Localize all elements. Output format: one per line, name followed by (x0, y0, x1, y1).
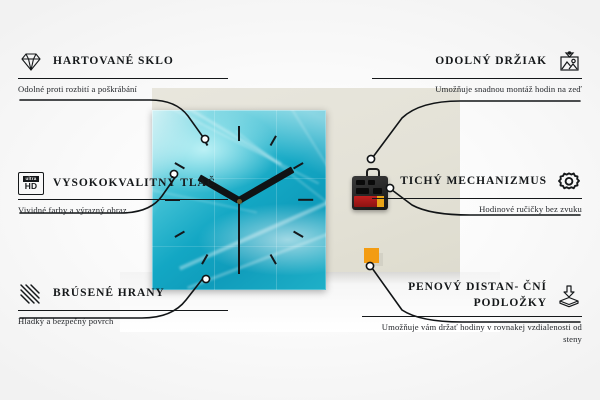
feature-title: PENOVÝ DISTAN- ČNÍ PODLOŽKY (362, 280, 547, 312)
divider (18, 78, 228, 79)
feature-description: Hodinové ručičky bez zvuku (372, 203, 582, 215)
feature-title: BRÚSENÉ HRANY (53, 286, 165, 302)
clock-center-pivot (237, 199, 242, 204)
feature-description: Hladký a bezpečný povrch (18, 315, 228, 327)
foam-spacer-pad (364, 248, 379, 263)
feature-header: BRÚSENÉ HRANY (18, 282, 228, 306)
feature-title: ODOLNÝ DRŽIAK (435, 54, 547, 70)
feature-description: Odolné proti rozbití a poškrábání (18, 83, 228, 95)
divider (372, 78, 582, 79)
feature-high-quality-print[interactable]: ultra HD VYSOKOKVALITNÝ TLAČ Vividné far… (18, 172, 228, 217)
feature-header: ODOLNÝ DRŽIAK (372, 50, 582, 74)
divider (372, 198, 582, 199)
movement-slot (356, 188, 369, 194)
feature-tempered-glass[interactable]: HARTOVANÉ SKLO Odolné proti rozbití a po… (18, 50, 228, 96)
feature-header: PENOVÝ DISTAN- ČNÍ PODLOŽKY (362, 280, 582, 312)
divider (18, 310, 228, 311)
feature-title: VYSOKOKVALITNÝ TLAČ (53, 176, 216, 192)
clock-tick (298, 199, 313, 201)
movement-slot (356, 180, 365, 185)
feature-header: HARTOVANÉ SKLO (18, 50, 228, 74)
feature-title: HARTOVANÉ SKLO (53, 54, 174, 70)
feature-title: TICHÝ MECHANIZMUS (400, 174, 547, 190)
hd-label: HD (25, 182, 38, 191)
gear-icon (556, 170, 582, 194)
feature-ground-edges[interactable]: BRÚSENÉ HRANY Hladký a bezpečný povrch (18, 282, 228, 328)
diagonal-stripes-icon (18, 282, 44, 306)
feature-description: Umožňuje vám držať hodiny v rovnakej vzd… (362, 321, 582, 345)
press-down-layers-icon (556, 284, 582, 308)
feature-header: ultra HD VYSOKOKVALITNÝ TLAČ (18, 172, 228, 195)
diamond-icon (18, 50, 44, 74)
feature-durable-hanger[interactable]: ODOLNÝ DRŽIAK Umožňuje snadnou montáž ho… (372, 50, 582, 96)
divider (362, 316, 582, 317)
divider (18, 199, 228, 200)
picture-frame-icon (556, 50, 582, 74)
feature-description: Vividné farby a výrazný obraz (18, 204, 228, 216)
feature-header: TICHÝ MECHANIZMUS (372, 170, 582, 194)
clock-tick (238, 126, 240, 141)
clock-hand-second (238, 200, 240, 274)
ultra-hd-icon: ultra HD (18, 172, 44, 195)
feature-description: Umožňuje snadnou montáž hodin na zeď (372, 83, 582, 95)
feature-silent-mechanism[interactable]: TICHÝ MECHANIZMUS Hodinové ručičky bez z… (372, 170, 582, 216)
infographic-canvas: HARTOVANÉ SKLO Odolné proti rozbití a po… (0, 0, 600, 400)
feature-foam-spacers[interactable]: PENOVÝ DISTAN- ČNÍ PODLOŽKY Umožňuje vám… (362, 280, 582, 346)
